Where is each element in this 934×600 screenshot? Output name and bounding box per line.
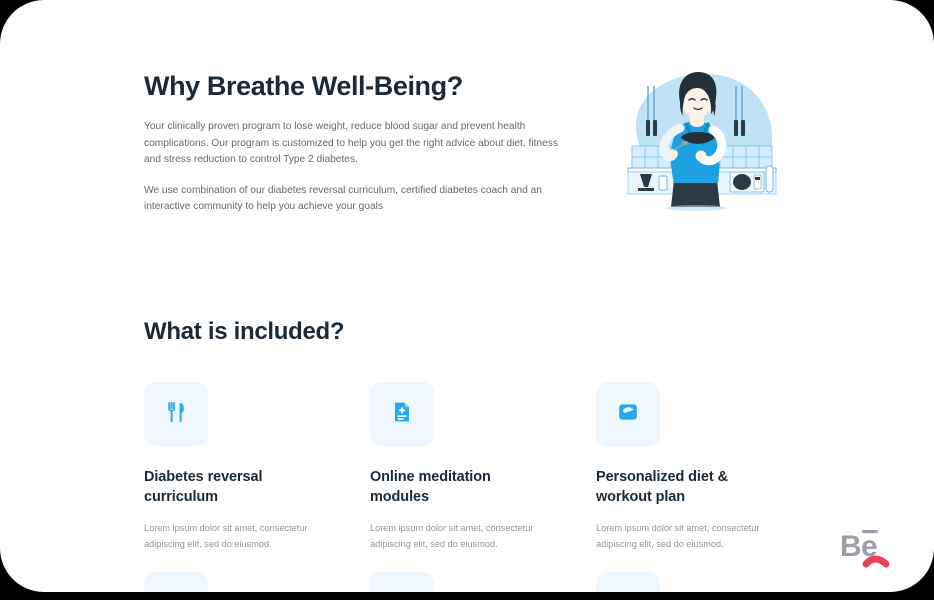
- weighing-scale-icon: [616, 400, 640, 429]
- why-heading: Why Breathe Well-Being?: [144, 70, 560, 102]
- feature-card-personalized-diet-workout-plan[interactable]: Personalized diet & workout plan Lorem i…: [596, 382, 822, 552]
- page-card: Why Breathe Well-Being? Your clinically …: [0, 0, 934, 592]
- feature-icon-tile: [596, 382, 660, 446]
- feature-cards-row-2-partial: [144, 572, 884, 592]
- feature-icon-tile: [370, 382, 434, 446]
- feature-card-title: Diabetes reversal curriculum: [144, 468, 324, 507]
- feature-card-description: Lorem ipsum dolor sit amet, consectetur …: [370, 520, 550, 552]
- page-content: Why Breathe Well-Being? Your clinically …: [0, 0, 934, 592]
- feature-cards-row: Diabetes reversal curriculum Lorem ipsum…: [144, 382, 884, 552]
- feature-card-row2-1[interactable]: [144, 572, 370, 592]
- feature-icon-tile: [144, 572, 208, 592]
- why-paragraph-1: Your clinically proven program to lose w…: [144, 119, 560, 169]
- screenshot-root: Why Breathe Well-Being? Your clinically …: [0, 0, 934, 600]
- svg-text:B: B: [840, 530, 862, 563]
- feature-card-title: Personalized diet & workout plan: [596, 468, 776, 507]
- document-medical-icon: [390, 400, 414, 429]
- feature-card-online-meditation-modules[interactable]: Online meditation modules Lorem ipsum do…: [370, 382, 596, 552]
- feature-card-description: Lorem ipsum dolor sit amet, consectetur …: [144, 520, 324, 552]
- included-section: What is included?: [144, 318, 844, 347]
- included-heading: What is included?: [144, 318, 844, 347]
- feature-icon-tile: [144, 382, 208, 446]
- feature-icon-tile: [370, 572, 434, 592]
- behance-logo: B e: [838, 526, 916, 578]
- feature-card-title: Online meditation modules: [370, 468, 550, 507]
- why-section: Why Breathe Well-Being? Your clinically …: [144, 70, 784, 216]
- feature-card-row2-3[interactable]: [596, 572, 822, 592]
- why-paragraph-2: We use combination of our diabetes rever…: [144, 183, 560, 216]
- fork-knife-icon: [164, 400, 188, 429]
- feature-icon-tile: [596, 572, 660, 592]
- feature-card-description: Lorem ipsum dolor sit amet, consectetur …: [596, 520, 776, 552]
- feature-card-diabetes-reversal-curriculum[interactable]: Diabetes reversal curriculum Lorem ipsum…: [144, 382, 370, 552]
- why-text-column: Why Breathe Well-Being? Your clinically …: [144, 70, 560, 216]
- woman-eating-in-kitchen-illustration: [614, 62, 790, 214]
- feature-card-row2-2[interactable]: [370, 572, 596, 592]
